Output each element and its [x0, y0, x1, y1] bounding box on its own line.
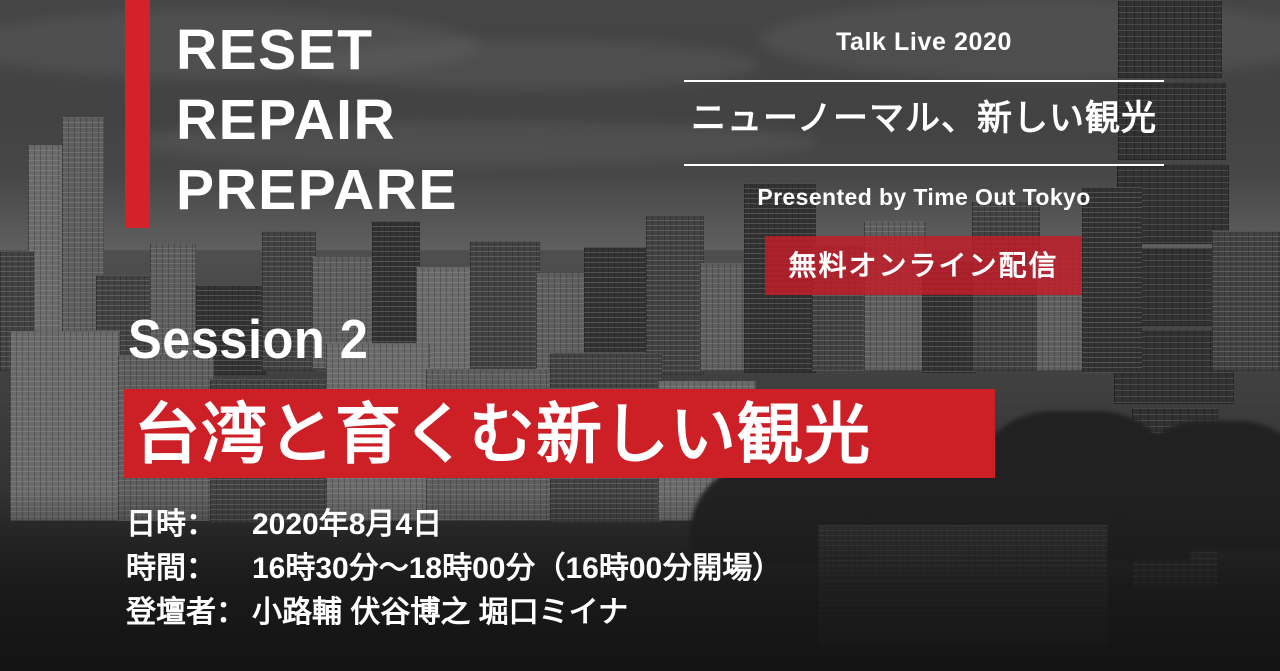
- detail-value-date: 2020年8月4日: [252, 503, 442, 547]
- free-streaming-badge: 無料オンライン配信: [765, 236, 1082, 295]
- slogan-line-3: PREPARE: [176, 155, 616, 225]
- divider-top: [684, 80, 1164, 82]
- detail-row-date: 日時： 2020年8月4日: [126, 503, 782, 547]
- detail-row-time: 時間： 16時30分〜18時00分（16時00分開場）: [126, 547, 782, 591]
- slogan-block: RESET REPAIR PREPARE: [176, 15, 616, 225]
- free-streaming-badge-label: 無料オンライン配信: [788, 252, 1058, 280]
- event-banner: RESET REPAIR PREPARE Talk Live 2020 ニューノ…: [0, 0, 1280, 671]
- event-theme-title: ニューノーマル、新しい観光: [684, 96, 1164, 142]
- event-details-block: 日時： 2020年8月4日 時間： 16時30分〜18時00分（16時00分開場…: [126, 503, 782, 635]
- detail-value-speakers: 小路輔 伏谷博之 堀口ミイナ: [252, 591, 628, 635]
- session-title: 台湾と育くむ新しい観光: [124, 401, 871, 467]
- detail-label-date: 日時：: [126, 503, 252, 547]
- detail-label-speakers: 登壇者：: [126, 591, 252, 635]
- presented-by-label: Presented by Time Out Tokyo: [684, 182, 1164, 212]
- session-number-label: Session 2: [128, 308, 368, 370]
- session-title-bar: 台湾と育くむ新しい観光: [124, 389, 995, 478]
- banner-content: RESET REPAIR PREPARE Talk Live 2020 ニューノ…: [0, 0, 1280, 671]
- slogan-line-2: REPAIR: [176, 85, 616, 155]
- detail-row-speakers: 登壇者： 小路輔 伏谷博之 堀口ミイナ: [126, 591, 782, 635]
- accent-bar: [125, 0, 150, 228]
- event-series-label: Talk Live 2020: [684, 26, 1164, 58]
- detail-label-time: 時間：: [126, 547, 252, 591]
- divider-bottom: [684, 164, 1164, 166]
- detail-value-time: 16時30分〜18時00分（16時00分開場）: [252, 547, 782, 591]
- slogan-line-1: RESET: [176, 15, 616, 85]
- event-header-block: Talk Live 2020 ニューノーマル、新しい観光 Presented b…: [684, 26, 1164, 212]
